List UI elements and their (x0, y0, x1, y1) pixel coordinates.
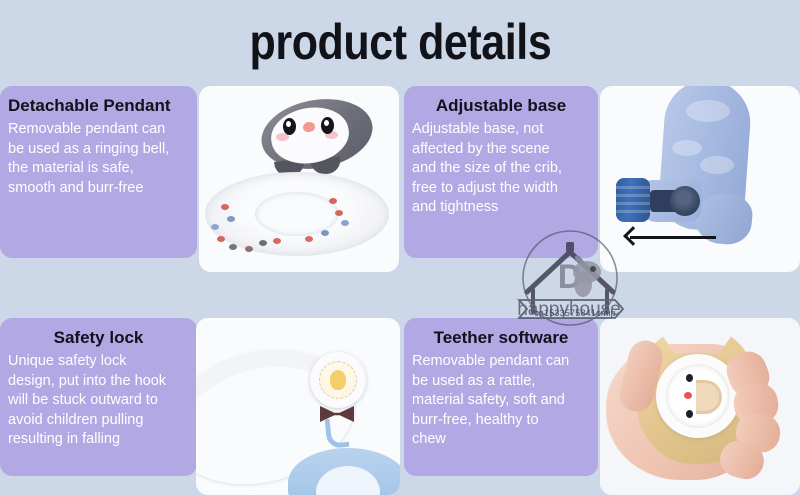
body-line: Removable pendant can (8, 120, 189, 140)
feature-body: Removable pendant can be used as a ringi… (8, 120, 189, 198)
cloud-embossing (686, 100, 730, 122)
body-line: avoid children pulling (8, 411, 189, 431)
body-line: affected by the scene (412, 140, 590, 160)
body-line: Adjustable base, not (412, 120, 590, 140)
ring-dot (227, 216, 235, 222)
body-line: and tightness (412, 198, 590, 218)
penguin-rattle-illustration (199, 86, 399, 272)
body-line: burr-free, healthy to (412, 411, 590, 431)
ring-dot (273, 238, 281, 244)
ring-dot (211, 224, 219, 230)
ring-dot (335, 210, 343, 216)
feature-heading: Adjustable base (412, 96, 590, 116)
feature-body: Unique safety lock design, put into the … (8, 352, 189, 450)
feature-body: Removable pendant can be used as a rattl… (412, 352, 590, 450)
ring-dot (221, 204, 229, 210)
body-line: smooth and burr-free (8, 179, 189, 199)
body-line: Unique safety lock (8, 352, 189, 372)
ring-dot (245, 246, 253, 252)
ring-dot (321, 230, 329, 236)
body-line: will be stuck outward to (8, 391, 189, 411)
body-line: the material is safe, (8, 159, 189, 179)
body-line: free to adjust the width (412, 179, 590, 199)
cat-eye-right (686, 410, 693, 418)
penguin-eye-left (283, 118, 296, 135)
clamp-screw (670, 186, 700, 216)
feature-heading: Teether software (412, 328, 590, 348)
ring-dot (329, 198, 337, 204)
chick-graphic (330, 370, 346, 390)
penguin-eye-right (321, 117, 334, 134)
feature-card-detachable-pendant: Detachable Pendant Removable pendant can… (0, 86, 197, 258)
body-line: be used as a rattle, (412, 372, 590, 392)
clamp-base-illustration (600, 86, 800, 272)
direction-arrow-line (630, 236, 716, 239)
body-line: be used as a ringing bell, (8, 140, 189, 160)
cloud-embossing (672, 140, 702, 156)
watermark-id: cn1533575841cmip (516, 308, 634, 318)
cat-nose (684, 392, 692, 399)
feature-heading: Detachable Pendant (8, 96, 189, 116)
cloud-embossing (700, 156, 734, 174)
body-line: chew (412, 430, 590, 450)
feature-image-safety-lock (196, 318, 400, 495)
body-line: design, put into the hook (8, 372, 189, 392)
ring-dot (341, 220, 349, 226)
svg-text:D: D (558, 258, 583, 296)
page-title-bar: product details (0, 0, 800, 84)
feature-card-teether-software: Teether software Removable pendant can b… (404, 318, 598, 476)
hand-holding-teether-illustration (600, 318, 800, 495)
body-line: resulting in falling (8, 430, 189, 450)
ring-dot (305, 236, 313, 242)
clamp-adjust-knob (616, 178, 650, 222)
body-line: material safety, soft and (412, 391, 590, 411)
page-title: product details (249, 13, 551, 71)
product-details-infographic: product details Detachable Pendant Remov… (0, 0, 800, 495)
cat-eye-left (686, 374, 693, 382)
direction-arrow-icon (623, 226, 643, 246)
body-line: and the size of the crib, (412, 159, 590, 179)
safety-hook-illustration (196, 318, 400, 495)
feature-image-adjustable-base (600, 86, 800, 272)
feature-image-teether-software (600, 318, 800, 495)
ring-dot (217, 236, 225, 242)
feature-image-detachable-pendant (199, 86, 399, 272)
feature-body: Adjustable base, not affected by the sce… (412, 120, 590, 218)
body-line: Removable pendant can (412, 352, 590, 372)
feature-card-safety-lock: Safety lock Unique safety lock design, p… (0, 318, 197, 476)
ring-dot (259, 240, 267, 246)
feature-card-adjustable-base: Adjustable base Adjustable base, not aff… (404, 86, 598, 258)
feature-heading: Safety lock (8, 328, 189, 348)
ring-dot (229, 244, 237, 250)
